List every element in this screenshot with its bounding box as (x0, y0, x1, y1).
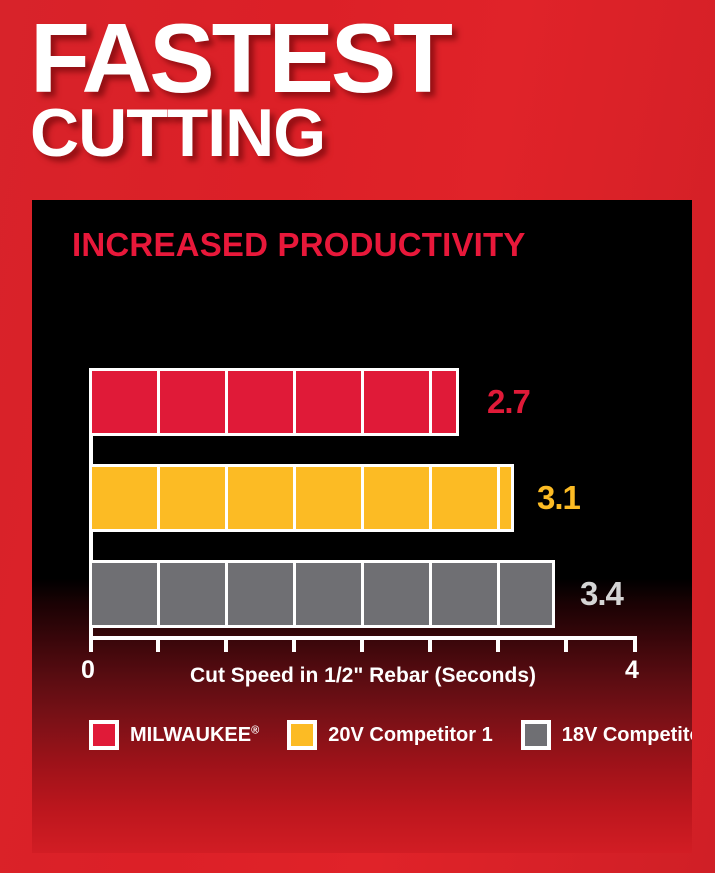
headline-secondary: CUTTING (0, 104, 715, 162)
chart-legend: MILWAUKEE® 20V Competitor 1 18V Competit… (89, 720, 689, 750)
legend-item-competitor-18v[interactable]: 18V Competitor 2 (521, 720, 692, 750)
bar-segment (228, 467, 296, 529)
poster-root: FASTEST CUTTING INCREASED PRODUCTIVITY (0, 0, 715, 873)
bar-segment (92, 467, 160, 529)
legend-item-milwaukee[interactable]: MILWAUKEE® (89, 720, 259, 750)
x-axis-tick (292, 636, 296, 652)
bar-competitor-20v[interactable] (89, 464, 514, 532)
bar-competitor-18v[interactable] (89, 560, 555, 628)
x-axis-title: Cut Speed in 1/2" Rebar (Seconds) (89, 664, 637, 688)
chart-panel: INCREASED PRODUCTIVITY 2.7 (32, 200, 692, 853)
bar-segment (364, 467, 432, 529)
legend-swatch-icon (521, 720, 551, 750)
bar-segment (432, 467, 500, 529)
bar-segment (296, 563, 364, 625)
bar-segment (296, 467, 364, 529)
bar-segment (92, 563, 160, 625)
bar-segment (160, 371, 228, 433)
legend-label-competitor-20v: 20V Competitor 1 (328, 724, 492, 747)
legend-label-competitor-18v: 18V Competitor 2 (562, 724, 692, 747)
bar-segment (432, 371, 456, 433)
x-axis-tick (89, 636, 93, 652)
legend-label-milwaukee: MILWAUKEE® (130, 724, 259, 747)
bar-milwaukee[interactable] (89, 368, 459, 436)
bar-group: 2.7 3.1 (89, 368, 689, 656)
bar-value-competitor-18v: 3.4 (580, 575, 623, 613)
bar-segment (364, 371, 432, 433)
bar-value-milwaukee: 2.7 (487, 383, 530, 421)
bar-segment (296, 371, 364, 433)
x-axis-tick (428, 636, 432, 652)
headline-primary: FASTEST (0, 16, 715, 100)
plot-area: 2.7 3.1 (89, 368, 689, 838)
x-axis-tick (496, 636, 500, 652)
x-axis-tick (564, 636, 568, 652)
bar-segment (160, 563, 228, 625)
bar-segment (500, 563, 552, 625)
table-row: 2.7 (89, 368, 689, 436)
bar-segment (228, 563, 296, 625)
bar-segment (92, 371, 160, 433)
headline-block: FASTEST CUTTING (0, 0, 715, 163)
bar-segment (364, 563, 432, 625)
bar-segment (500, 467, 511, 529)
table-row: 3.1 (89, 464, 689, 532)
legend-swatch-icon (89, 720, 119, 750)
bar-segment (228, 371, 296, 433)
x-axis-tick (156, 636, 160, 652)
table-row: 3.4 (89, 560, 689, 628)
legend-swatch-icon (287, 720, 317, 750)
x-axis-tick (360, 636, 364, 652)
bar-value-competitor-20v: 3.1 (537, 479, 580, 517)
panel-title: INCREASED PRODUCTIVITY (72, 226, 526, 264)
x-axis-tick (633, 636, 637, 652)
legend-item-competitor-20v[interactable]: 20V Competitor 1 (287, 720, 492, 750)
bar-segment (432, 563, 500, 625)
bar-segment (160, 467, 228, 529)
x-axis-tick (224, 636, 228, 652)
